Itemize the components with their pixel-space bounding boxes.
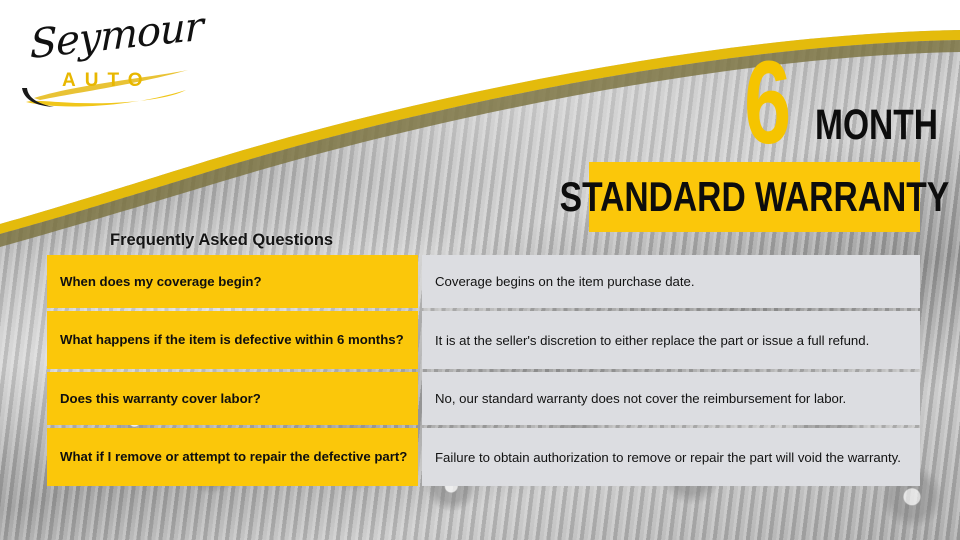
warranty-duration-unit: MONTH <box>815 104 938 147</box>
faq-question: Does this warranty cover labor? <box>47 372 418 425</box>
faq-answer: Failure to obtain authorization to remov… <box>422 428 920 486</box>
faq-question: What happens if the item is defective wi… <box>47 311 418 369</box>
faq-heading: Frequently Asked Questions <box>110 231 333 250</box>
warranty-slide: Seymour AUTO 6 MONTH STANDARD WARRANTY F… <box>0 0 960 540</box>
table-row: What happens if the item is defective wi… <box>47 311 920 369</box>
seymour-auto-logo: Seymour AUTO <box>18 14 208 110</box>
faq-answer: Coverage begins on the item purchase dat… <box>422 255 920 308</box>
table-row: What if I remove or attempt to repair th… <box>47 428 920 486</box>
faq-answer: No, our standard warranty does not cover… <box>422 372 920 425</box>
faq-question: What if I remove or attempt to repair th… <box>47 428 418 486</box>
table-row: Does this warranty cover labor? No, our … <box>47 372 920 425</box>
standard-warranty-label: STANDARD WARRANTY <box>560 176 949 218</box>
logo-subtitle: AUTO <box>62 70 151 92</box>
faq-question: When does my coverage begin? <box>47 255 418 308</box>
faq-answer: It is at the seller's discretion to eith… <box>422 311 920 369</box>
warranty-duration-number: 6 <box>744 44 790 162</box>
faq-table: When does my coverage begin? Coverage be… <box>47 255 920 486</box>
table-row: When does my coverage begin? Coverage be… <box>47 255 920 308</box>
standard-warranty-banner: STANDARD WARRANTY <box>589 162 920 232</box>
